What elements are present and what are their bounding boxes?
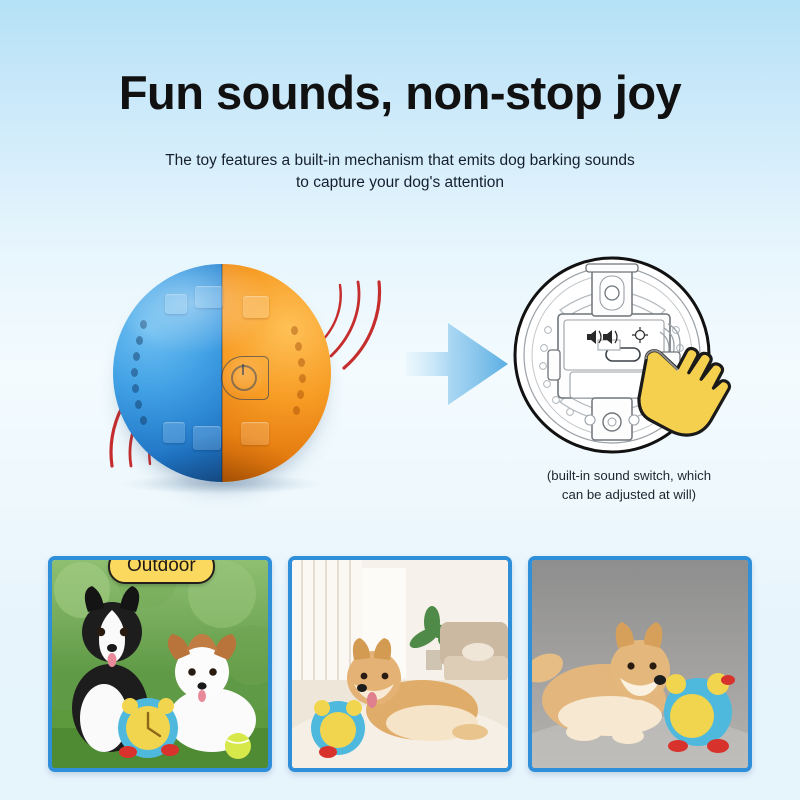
- subtitle-line-2: to capture your dog's attention: [100, 172, 700, 194]
- scene-image-evening: [532, 560, 748, 768]
- scene-card-outdoor[interactable]: Outdoor: [48, 556, 272, 772]
- flow-arrow: [404, 316, 512, 412]
- scene-image-indoor: [292, 560, 508, 768]
- subtitle-line-1: The toy features a built-in mechanism th…: [100, 150, 700, 172]
- product-infographic: Fun sounds, non-stop joy The toy feature…: [0, 0, 800, 800]
- page-subtitle: The toy features a built-in mechanism th…: [100, 150, 700, 194]
- ball-gloss: [113, 264, 331, 482]
- mechanism-caption: (built-in sound switch, which can be adj…: [498, 466, 760, 504]
- scene-card-indoor[interactable]: Indoor: [288, 556, 512, 772]
- page-headline: Fun sounds, non-stop joy: [0, 66, 800, 120]
- pointing-hand-icon: [622, 334, 742, 454]
- scene-image-outdoor: [52, 560, 268, 768]
- mechanism-caption-line-1: (built-in sound switch, which: [498, 466, 760, 485]
- scene-badge-outdoor: Outdoor: [108, 556, 215, 584]
- arrow-right-icon: [404, 316, 512, 412]
- mechanism-caption-line-2: can be adjusted at will): [498, 485, 760, 504]
- dog-toy-ball[interactable]: [113, 264, 331, 482]
- internal-mechanism-diagram: [500, 252, 730, 462]
- product-ball-illustration: [100, 252, 400, 502]
- usage-scenes: Outdoor: [48, 548, 756, 768]
- scene-card-evening[interactable]: Evening: [528, 556, 752, 772]
